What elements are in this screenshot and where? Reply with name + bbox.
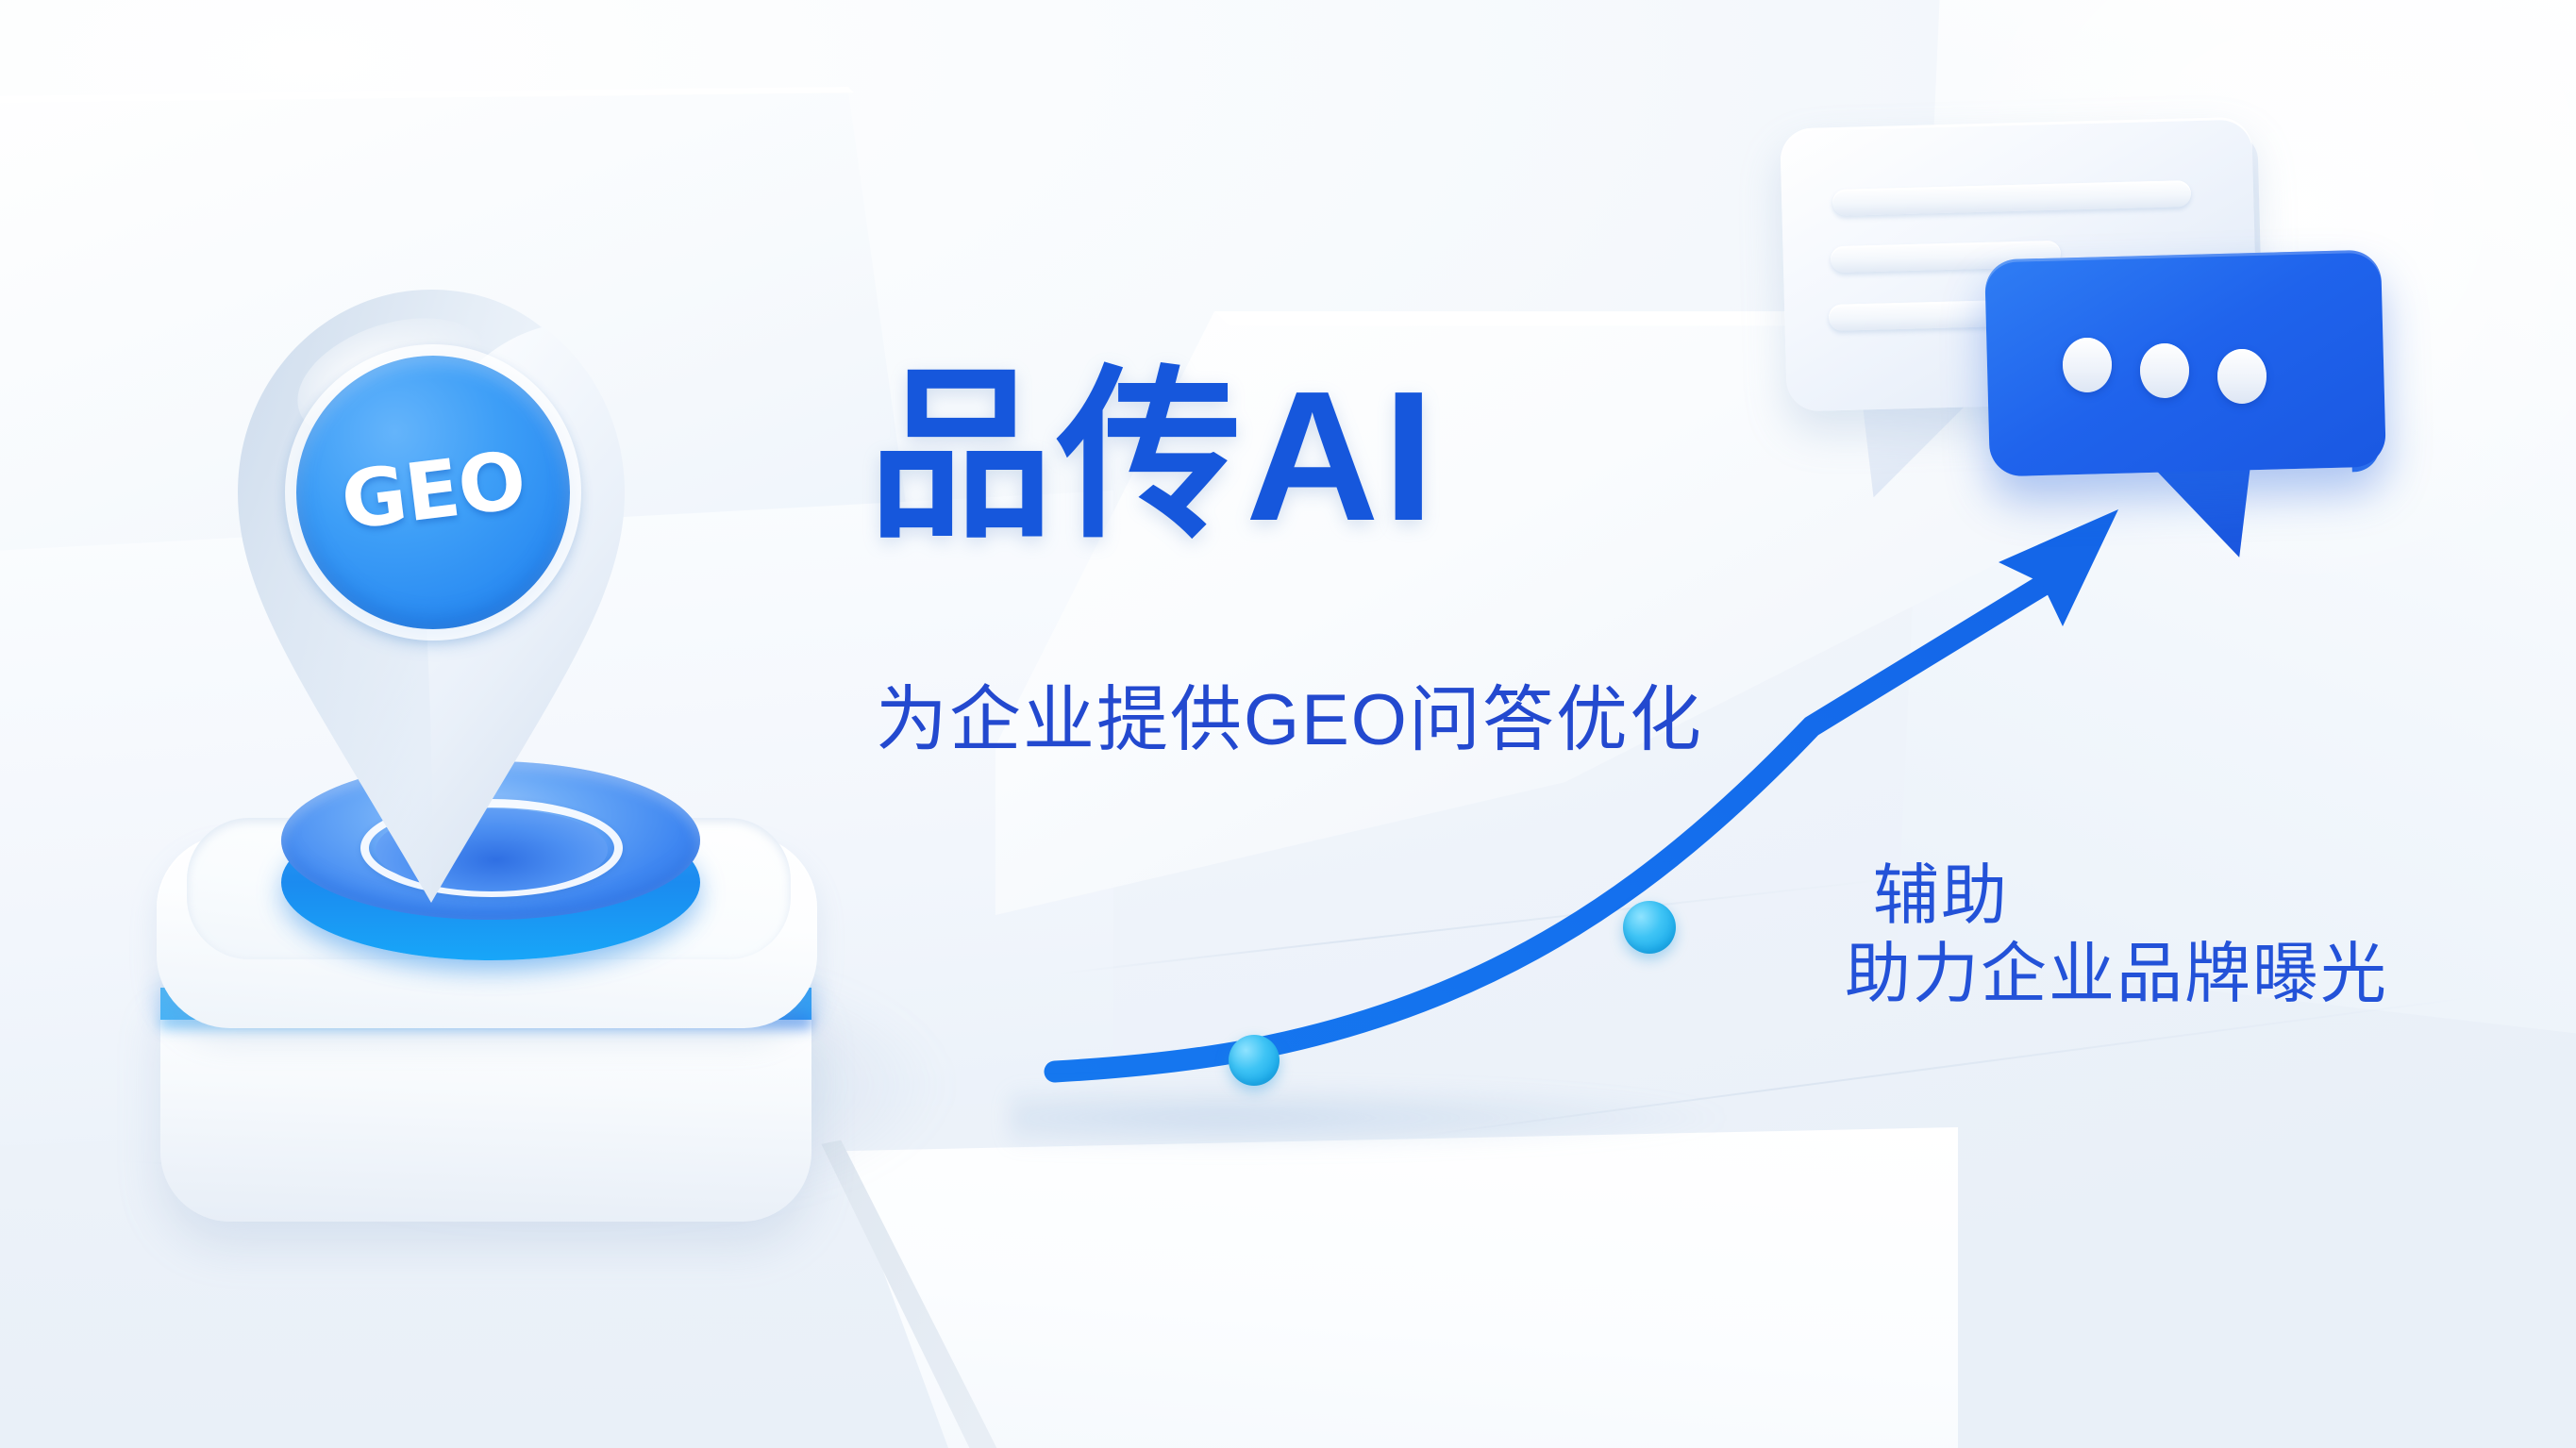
pedestal-base-bottom	[160, 995, 811, 1222]
growth-node-marker	[1623, 901, 1676, 954]
geo-badge: GEO	[296, 356, 570, 629]
typing-dot-icon	[2140, 343, 2189, 398]
typing-dot-icon	[2063, 338, 2112, 392]
growth-node-marker	[1229, 1035, 1280, 1086]
growth-arrow-chart	[1000, 472, 2208, 1151]
growth-curve-svg	[1000, 472, 2208, 1151]
side-copy-line-1: 辅助	[1845, 857, 2388, 935]
side-copy-block: 辅助 助力企业品牌曝光	[1845, 857, 2388, 1012]
growth-curve-shadow	[1010, 1085, 1727, 1151]
hero-banner: GEO	[0, 0, 2576, 1448]
geo-badge-label: GEO	[336, 434, 529, 548]
side-copy-line-2: 助力企业品牌曝光	[1845, 935, 2388, 1013]
page-title: 品传AI	[868, 364, 1438, 549]
geo-pin-illustration: GEO	[160, 429, 991, 1240]
typing-dot-icon	[2217, 349, 2267, 404]
map-pin-icon: GEO	[238, 290, 625, 903]
chat-bubbles-illustration	[1783, 123, 2501, 566]
page-subtitle: 为企业提供GEO问答优化	[876, 685, 1703, 757]
